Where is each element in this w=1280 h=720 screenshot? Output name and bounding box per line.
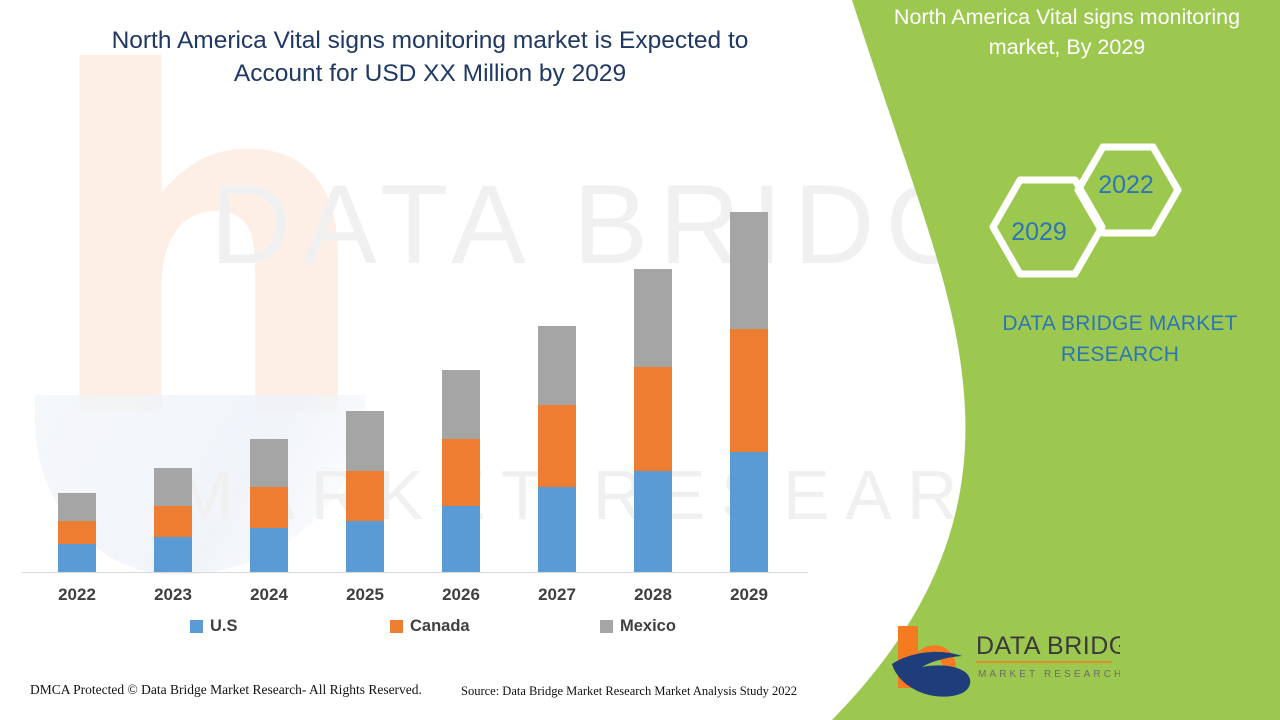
bar-segment-Mexico-2024 — [250, 439, 288, 486]
logo-tagline: MARKET RESEARCH — [978, 669, 1120, 680]
bar-2024 — [250, 439, 288, 572]
legend-swatch-icon — [190, 620, 203, 633]
bar-segment-Mexico-2028 — [634, 269, 672, 367]
x-axis-labels: 20222023202420252026202720282029 — [0, 585, 860, 613]
bar-segment-US-2026 — [442, 506, 480, 572]
x-label-2026: 2026 — [426, 585, 496, 605]
legend-item-Canada[interactable]: Canada — [390, 617, 470, 636]
bar-segment-Canada-2026 — [442, 439, 480, 505]
bar-segment-Mexico-2029 — [730, 212, 768, 329]
bar-2022 — [58, 493, 96, 572]
chart-legend: U.SCanadaMexico — [0, 617, 820, 643]
bar-2023 — [154, 468, 192, 572]
hexagon-2022-label: 2022 — [1062, 171, 1190, 200]
logo-wordmark: DATA BRIDGE — [976, 632, 1120, 660]
bar-segment-Canada-2022 — [58, 521, 96, 543]
bar-segment-Mexico-2027 — [538, 326, 576, 405]
legend-label: Canada — [410, 617, 470, 636]
legend-label: Mexico — [620, 617, 676, 636]
x-label-2024: 2024 — [234, 585, 304, 605]
bar-segment-US-2025 — [346, 521, 384, 572]
x-label-2025: 2025 — [330, 585, 400, 605]
stacked-bar-chart: 20222023202420252026202720282029 U.SCana… — [0, 0, 860, 660]
bar-segment-Canada-2024 — [250, 487, 288, 528]
bar-2025 — [346, 411, 384, 572]
chart-bars — [0, 0, 860, 573]
x-label-2027: 2027 — [522, 585, 592, 605]
bar-segment-Mexico-2025 — [346, 411, 384, 471]
legend-swatch-icon — [600, 620, 613, 633]
bar-2028 — [634, 269, 672, 572]
bar-segment-US-2022 — [58, 544, 96, 572]
bar-2029 — [730, 212, 768, 572]
data-bridge-logo: DATA BRIDGE MARKET RESEARCH — [890, 620, 1120, 700]
bar-segment-Canada-2027 — [538, 405, 576, 487]
bar-segment-Mexico-2022 — [58, 493, 96, 521]
infographic-canvas: h DATA BRIDGE MARKET RESEARCH North Amer… — [0, 0, 1280, 720]
bar-segment-Canada-2025 — [346, 471, 384, 522]
hexagon-2029-label: 2029 — [975, 218, 1103, 247]
bar-segment-Canada-2028 — [634, 367, 672, 471]
legend-label: U.S — [210, 617, 238, 636]
copyright-text: DMCA Protected © Data Bridge Market Rese… — [30, 682, 422, 698]
logo-mark-icon — [892, 626, 970, 697]
bar-segment-US-2027 — [538, 487, 576, 572]
bar-2027 — [538, 326, 576, 572]
bar-segment-Canada-2023 — [154, 506, 192, 538]
bar-segment-Mexico-2026 — [442, 370, 480, 440]
panel-brand-name: DATA BRIDGE MARKET RESEARCH — [975, 308, 1265, 370]
bar-segment-US-2028 — [634, 471, 672, 572]
bar-2026 — [442, 370, 480, 572]
x-label-2029: 2029 — [714, 585, 784, 605]
legend-swatch-icon — [390, 620, 403, 633]
source-text: Source: Data Bridge Market Research Mark… — [461, 684, 797, 699]
x-label-2023: 2023 — [138, 585, 208, 605]
bar-segment-US-2029 — [730, 452, 768, 572]
panel-title: North America Vital signs monitoring mar… — [862, 2, 1272, 62]
bar-segment-Canada-2029 — [730, 329, 768, 452]
bar-segment-US-2023 — [154, 537, 192, 572]
bar-segment-Mexico-2023 — [154, 468, 192, 506]
legend-item-US[interactable]: U.S — [190, 617, 238, 636]
x-label-2022: 2022 — [42, 585, 112, 605]
bar-segment-US-2024 — [250, 528, 288, 572]
x-label-2028: 2028 — [618, 585, 688, 605]
legend-item-Mexico[interactable]: Mexico — [600, 617, 676, 636]
